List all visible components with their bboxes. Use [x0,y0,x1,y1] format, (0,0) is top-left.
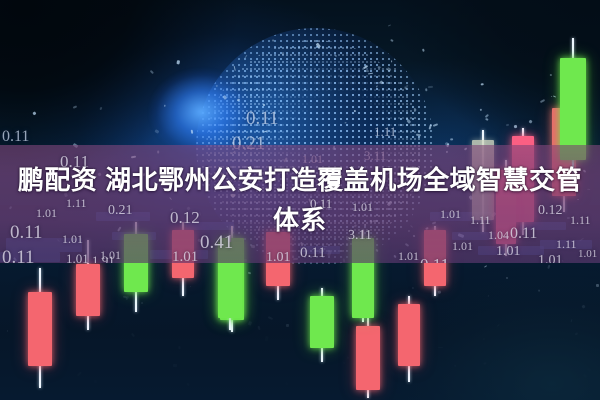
number-label: 1.01 [578,248,597,260]
number-label: 1.01 [398,249,419,263]
number-label: 0.11 [420,255,449,263]
candlestick-body [28,292,52,366]
number-label: 1.01 [172,249,198,263]
number-label: 0.11 [300,245,326,262]
banner-image: 0.110.211.113.111.010.11 0.111.010.110.1… [0,0,600,400]
candlestick-body [310,296,334,348]
number-label: 1.01 [266,250,291,263]
number-label: 1.91 [92,253,115,263]
page-title-line-2: 体系 [8,200,592,240]
number-label: 1.01 [452,239,473,254]
number-label: 0.11 [2,247,35,263]
number-label: 1.01 [538,253,563,263]
candlestick-body [76,264,100,316]
number-label: 1.01 [496,244,521,260]
title-block: 鹏配资 湖北鄂州公安打造覆盖机场全域智慧交管 体系 [0,160,600,240]
number-label: 1.01 [66,251,89,263]
page-title-line-1: 鹏配资 湖北鄂州公安打造覆盖机场全域智慧交管 [8,160,592,200]
candlestick-body [398,304,420,366]
